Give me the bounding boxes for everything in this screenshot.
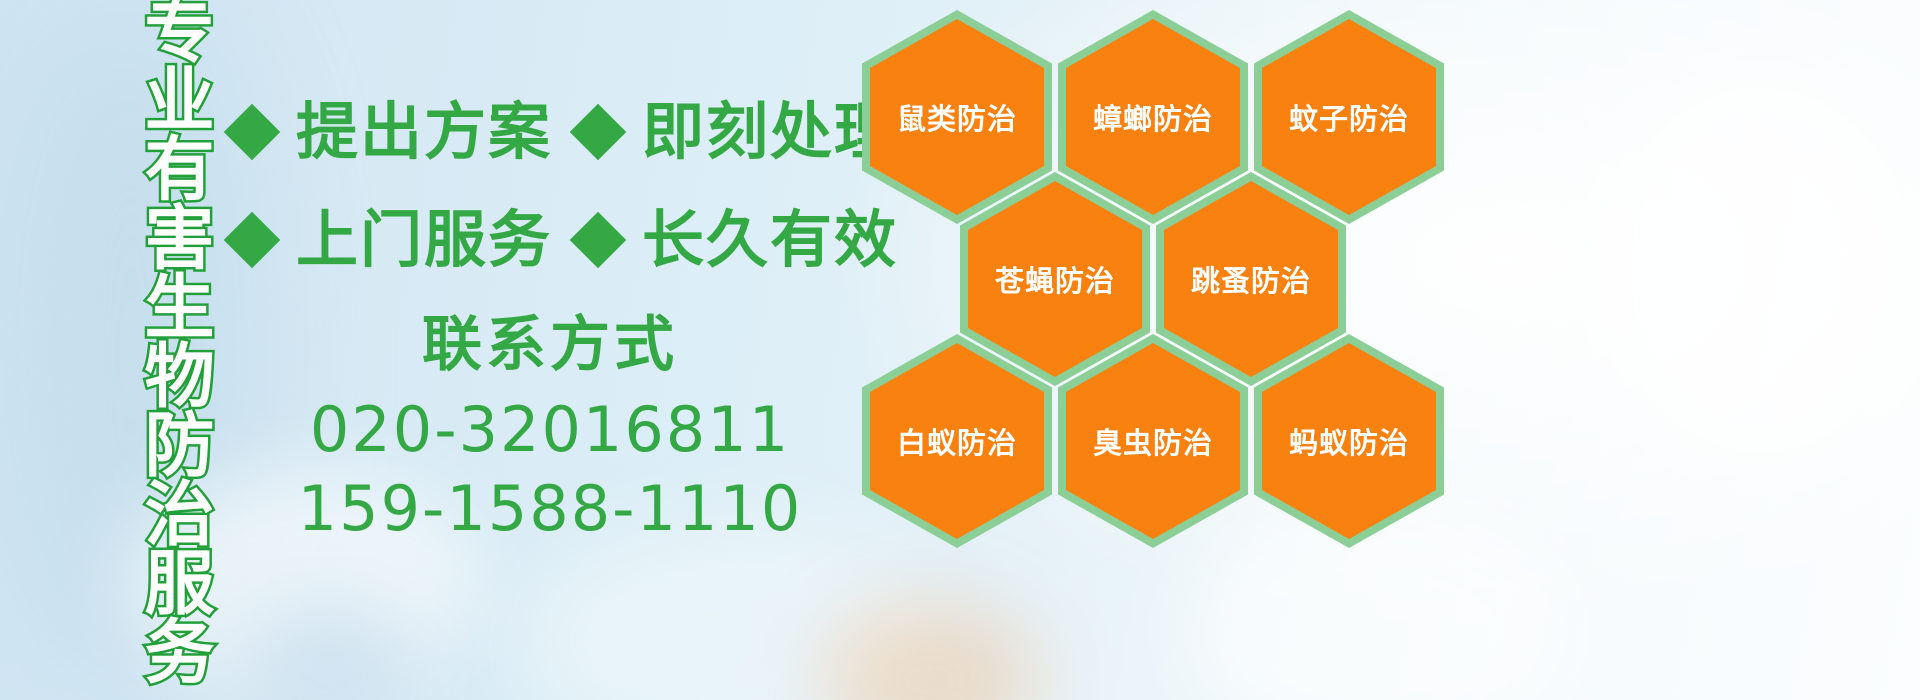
hex-inner: 蚊子防治 (1262, 19, 1436, 215)
hex-label-termite: 白蚁防治 (897, 420, 1017, 462)
hex-label-ant: 蚂蚁防治 (1289, 420, 1409, 462)
contact-phone-mobile: 159-1588-1110 (290, 469, 810, 548)
diamond-bullet-icon (570, 212, 627, 269)
diamond-bullet-icon (224, 104, 281, 161)
background-blur-4 (1580, 60, 1920, 480)
feature-row-1: 提出方案 即刻处理 (232, 78, 872, 186)
hex-label-rodent: 鼠类防治 (897, 96, 1017, 138)
hex-label-mosquito: 蚊子防治 (1289, 96, 1409, 138)
service-honeycomb: 鼠类防治 蟑螂防治 蚊子防治 苍蝇防治 跳蚤防治 白蚁防治 (862, 0, 1462, 700)
feature-label-immediate-handling: 即刻处理 (642, 101, 898, 163)
hex-inner: 臭虫防治 (1066, 343, 1240, 539)
diamond-bullet-icon (224, 212, 281, 269)
contact-phone-landline: 020-32016811 (290, 390, 810, 469)
hex-inner: 鼠类防治 (870, 19, 1044, 215)
hex-label-fly: 苍蝇防治 (995, 258, 1115, 300)
background-blur-6 (240, 600, 420, 700)
feature-row-2: 上门服务 长久有效 (232, 186, 872, 294)
hex-label-bedbug: 臭虫防治 (1093, 420, 1213, 462)
contact-block: 联系方式 020-32016811 159-1588-1110 (290, 312, 810, 549)
vertical-headline: 专业有害生物防治服务 (104, 0, 208, 700)
feature-label-onsite-service: 上门服务 (296, 209, 552, 271)
feature-label-propose-plan: 提出方案 (296, 101, 552, 163)
feature-list: 提出方案 即刻处理 上门服务 长久有效 (232, 78, 872, 294)
hex-label-cockroach: 蟑螂防治 (1093, 96, 1213, 138)
contact-title: 联系方式 (290, 312, 810, 378)
hex-label-flea: 跳蚤防治 (1191, 258, 1311, 300)
diamond-bullet-icon (570, 104, 627, 161)
hex-inner: 苍蝇防治 (968, 181, 1142, 377)
hex-inner: 跳蚤防治 (1164, 181, 1338, 377)
hex-inner: 蚂蚁防治 (1262, 343, 1436, 539)
feature-label-long-lasting: 长久有效 (642, 209, 898, 271)
pest-control-banner: 专业有害生物防治服务 提出方案 即刻处理 上门服务 长久有效 联系方式 020-… (0, 0, 1920, 700)
hex-inner: 白蚁防治 (870, 343, 1044, 539)
hex-inner: 蟑螂防治 (1066, 19, 1240, 215)
